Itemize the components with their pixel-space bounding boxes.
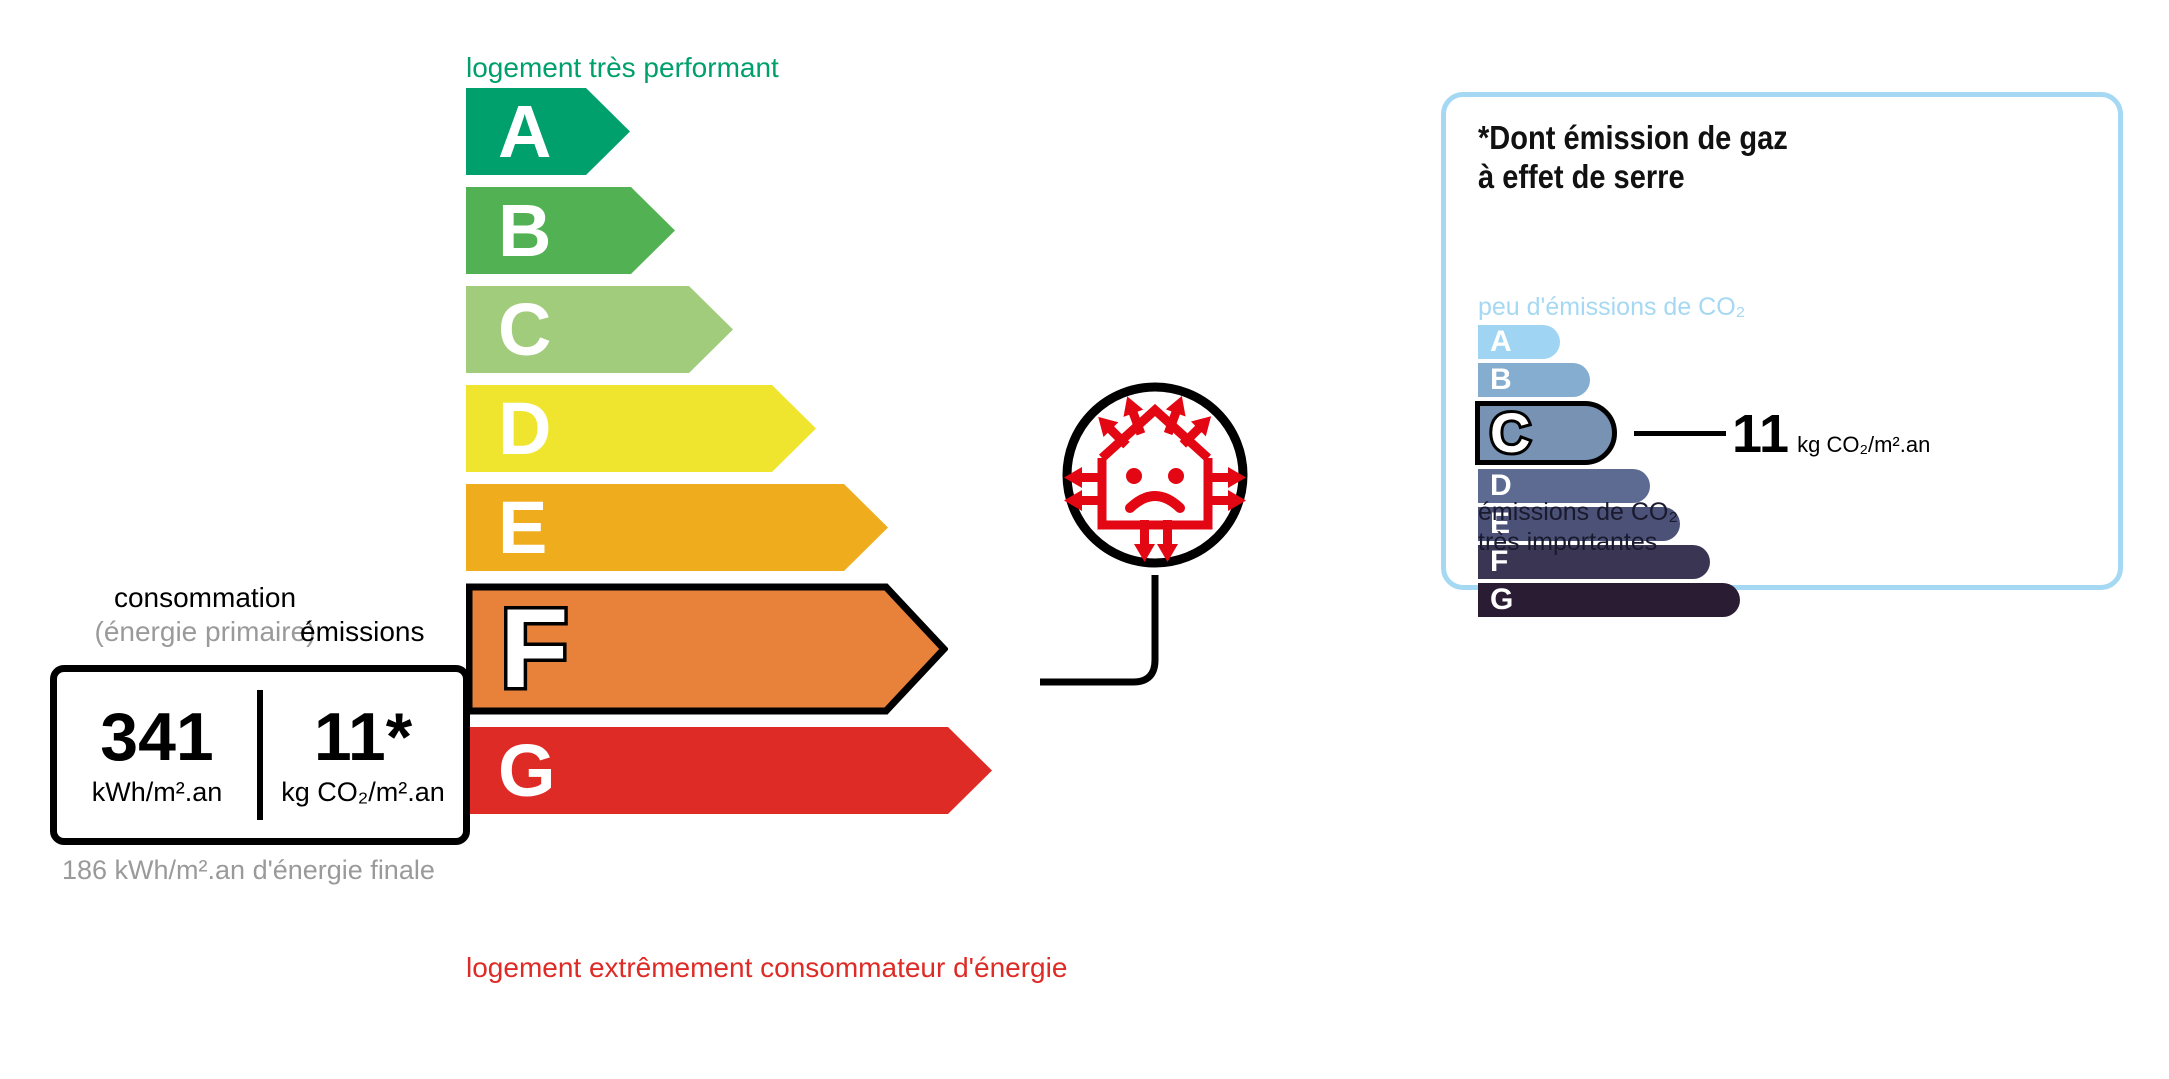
label-energie-finale: 186 kWh/m².an d'énergie finale (62, 855, 435, 887)
co2-leader-line (1634, 431, 1726, 436)
energy-class-letter-e: E (498, 491, 547, 565)
consumption-value-cell: 341 kWh/m².an (57, 672, 257, 838)
energy-bar-tip (689, 286, 733, 373)
energy-bar-tip (948, 727, 992, 814)
co2-class-row-c: C11kg CO₂/m².an (1478, 401, 1740, 465)
co2-class-letter-b: B (1490, 365, 1512, 395)
energy-bottom-caption: logement extrêmement consommateur d'éner… (466, 952, 1067, 984)
co2-class-ladder: ABC11kg CO₂/m².anDEFG (1478, 325, 1740, 621)
co2-bar-a: A (1478, 325, 1560, 359)
co2-class-row-b: B (1478, 363, 1740, 397)
label-consommation: consommation (50, 582, 360, 614)
co2-class-letter-g: G (1490, 585, 1513, 615)
label-emissions: émissions (300, 616, 424, 648)
co2-panel-title: *Dont émission de gaz à effet de serre (1478, 119, 1788, 197)
co2-top-caption: peu d'émissions de CO₂ (1478, 293, 1745, 322)
co2-class-row-g: G (1478, 583, 1740, 617)
co2-value: 11kg CO₂/m².an (1732, 407, 1930, 461)
energy-class-letter-d: D (498, 392, 551, 466)
consumption-unit: kWh/m².an (92, 777, 223, 808)
co2-bottom-caption: émissions de CO₂ très importantes (1478, 497, 1678, 557)
energy-top-caption: logement très performant (466, 52, 779, 84)
co2-value-unit: kg CO₂/m².an (1797, 432, 1930, 457)
co2-class-row-a: A (1478, 325, 1740, 359)
emission-unit: kg CO₂/m².an (281, 777, 445, 808)
value-box: 341 kWh/m².an 11* kg CO₂/m².an (50, 665, 470, 845)
energy-bar-tip (631, 187, 675, 274)
co2-class-letter-c: C (1490, 405, 1530, 461)
emission-number: 11* (314, 703, 412, 771)
co2-bar-g: G (1478, 583, 1740, 617)
energy-performance-panel: logement très performant ABCDEFG logemen… (0, 0, 1400, 1079)
energy-class-letter-g: G (498, 734, 556, 808)
energy-bar-tip (844, 484, 888, 571)
sad-house-heatloss-icon (1040, 360, 1270, 590)
co2-bar-c: C (1475, 401, 1617, 465)
energy-bar-tip (772, 385, 816, 472)
co2-class-letter-a: A (1490, 327, 1512, 357)
consumption-number: 341 (100, 703, 213, 771)
energy-class-letter-b: B (498, 194, 551, 268)
energy-bar-tip (586, 88, 630, 175)
co2-emissions-panel: *Dont émission de gaz à effet de serre p… (1441, 92, 2123, 590)
co2-bar-b: B (1478, 363, 1590, 397)
energy-class-letter-a: A (498, 95, 551, 169)
energy-class-letter-f: F (500, 593, 568, 705)
emission-value-cell: 11* kg CO₂/m².an (263, 672, 463, 838)
energy-class-letter-c: C (498, 293, 551, 367)
